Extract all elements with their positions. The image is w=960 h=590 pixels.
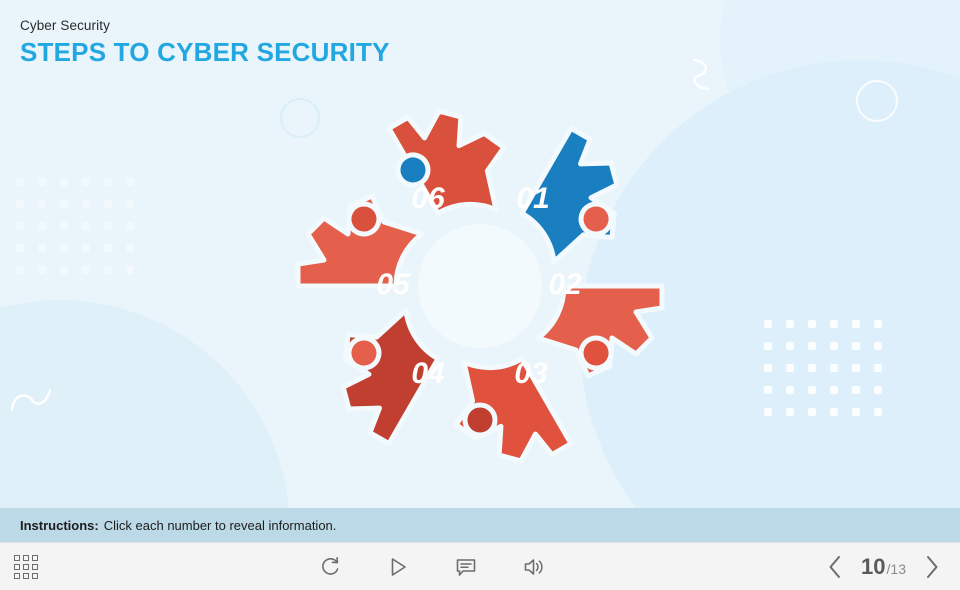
page-title: STEPS TO CYBER SECURITY (20, 37, 390, 68)
gear-label-06: 06 (411, 182, 445, 215)
volume-icon[interactable] (521, 554, 547, 580)
gear-diagram: 01 02 03 04 05 06 (280, 86, 680, 486)
decorative-dot-grid-left (16, 178, 134, 274)
gear-hub (418, 224, 542, 348)
instructions-text: Click each number to reveal information. (104, 518, 337, 533)
player-toolbar: 10 /13 (0, 542, 960, 590)
course-name: Cyber Security (20, 18, 390, 33)
gear-label-04: 04 (411, 357, 445, 390)
pager: 10 /13 (825, 554, 942, 580)
toolbar-right-group: 10 /13 (825, 554, 960, 580)
decorative-ring-right (856, 80, 898, 122)
decorative-squiggle-bottom-left (10, 386, 56, 416)
page-indicator: 10 /13 (861, 554, 906, 580)
instructions-label: Instructions: (20, 518, 99, 533)
toolbar-center-group (38, 554, 825, 580)
toolbar-left-group (0, 555, 38, 579)
comment-icon[interactable] (453, 554, 479, 580)
chevron-left-icon[interactable] (825, 554, 845, 580)
decorative-squiggle-top-right (690, 58, 716, 94)
chevron-right-icon[interactable] (922, 554, 942, 580)
grid-menu-icon[interactable] (14, 555, 38, 579)
gear-label-05: 05 (376, 268, 411, 301)
decorative-blob-top-right (720, 0, 960, 190)
gear-label-02: 02 (548, 268, 582, 301)
slide-header: Cyber Security STEPS TO CYBER SECURITY (20, 18, 390, 68)
gear-segments (298, 86, 662, 486)
gear-segment-03[interactable] (431, 336, 571, 486)
replay-icon[interactable] (317, 554, 343, 580)
total-pages: /13 (887, 561, 906, 577)
gear-label-01: 01 (516, 182, 549, 215)
gear-label-03: 03 (514, 357, 548, 390)
decorative-dot-grid-right (764, 320, 882, 416)
current-page: 10 (861, 554, 885, 580)
play-icon[interactable] (385, 554, 411, 580)
slide-canvas: Cyber Security STEPS TO CYBER SECURITY (0, 0, 960, 590)
instructions-bar: Instructions: Click each number to revea… (0, 508, 960, 542)
puzzle-knob-03-04 (465, 405, 495, 435)
